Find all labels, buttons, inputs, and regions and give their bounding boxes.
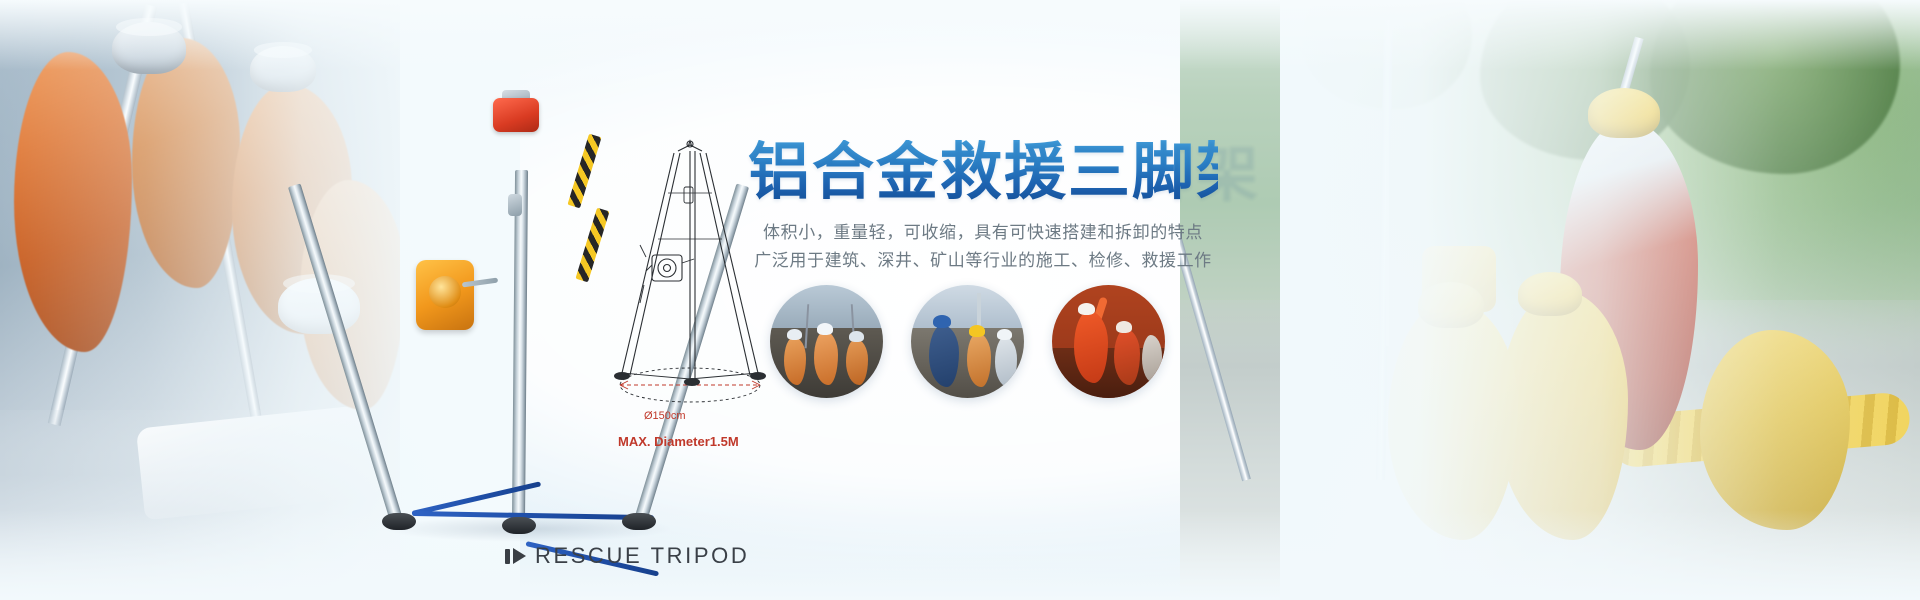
thumbnail-2[interactable] [911, 285, 1024, 398]
rescue-tripod-caption: RESCUE TRIPOD [505, 543, 749, 569]
subtitle-line-1: 体积小，重量轻，可收缩，具有可快速搭建和拆卸的特点 [748, 220, 1218, 248]
right-photo-helmet-1 [1588, 88, 1660, 138]
tripod-head-red [493, 98, 539, 132]
right-photo-rope [1386, 46, 1389, 346]
caption-text: RESCUE TRIPOD [535, 543, 749, 569]
subtitle-line-2: 广泛用于建筑、深井、矿山等行业的施工、检修、救援工作 [748, 248, 1218, 276]
left-photo-panel [0, 0, 400, 600]
left-photo-helmet-2 [250, 46, 316, 92]
max-diameter-label: MAX. Diameter1.5M [618, 434, 739, 449]
right-photo-panel [1180, 0, 1920, 600]
tripod-leg-center [512, 170, 528, 520]
banner-text-block: 铝合金救援三脚架 体积小，重量轻，可收缩，具有可快速搭建和拆卸的特点 广泛用于建… [748, 140, 1218, 276]
product-banner: Ø150cm MAX. Diameter1.5M RESCUE TRIPOD 铝… [0, 0, 1920, 600]
tripod-foot-3 [622, 513, 656, 530]
right-photo-helmet-2 [1418, 282, 1484, 328]
hazard-stripe-1 [567, 134, 601, 209]
thumbnail-3[interactable] [1052, 285, 1165, 398]
diameter-label: Ø150cm [644, 410, 686, 422]
tripod-foot-2 [502, 517, 536, 534]
page-title: 铝合金救援三脚架 [748, 140, 1218, 204]
play-marker-icon [505, 548, 526, 564]
thumbnail-1[interactable] [770, 285, 883, 398]
tripod-foot-1 [382, 513, 416, 530]
left-photo-helmet-1 [112, 22, 186, 74]
tripod-pulley [508, 194, 522, 216]
right-photo-helmet-3 [1518, 272, 1582, 316]
tripod-winch [416, 260, 474, 330]
